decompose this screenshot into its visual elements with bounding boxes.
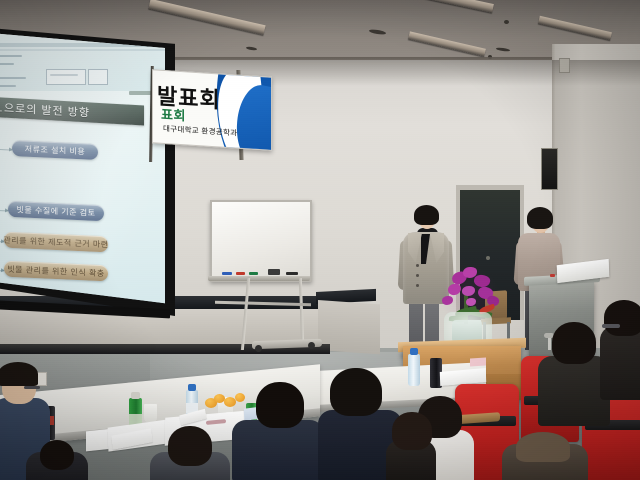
person-torso (600, 326, 640, 400)
flow-item-label: 빗물 수질에 기준 검토 (17, 204, 96, 219)
podium-pen[interactable] (550, 274, 555, 277)
microphone-stand (548, 336, 551, 350)
flow-connector (0, 148, 12, 150)
paper-cup[interactable] (144, 404, 157, 422)
ceiling-light (408, 31, 486, 56)
whiteboard-caster-wheel (255, 345, 262, 352)
pink-note (470, 357, 486, 366)
slide-title-bar: …으로의 발전 방향 (0, 97, 144, 126)
person-hair (414, 205, 439, 225)
ceiling-light (148, 0, 265, 35)
event-banner: 발표회 표회 대구대학교 환경공학과 (152, 69, 272, 151)
door-handle-icon[interactable] (486, 256, 490, 260)
whiteboard-eraser[interactable] (268, 269, 280, 275)
eyeglasses-icon (602, 324, 620, 328)
person-head (256, 382, 304, 428)
banner-subtitle: 표회 (161, 104, 186, 125)
projection-screen[interactable]: …으로의 발전 방향 저류조 설치 비용 빗물 수질에 기준 검토 관리를 위한… (0, 33, 165, 306)
ceiling-sensor (504, 20, 509, 24)
flow-item-label: 저류조 설치 비용 (25, 143, 85, 157)
person-hair (0, 362, 38, 386)
wall-fixture-box (559, 58, 570, 73)
ceiling-sensor (369, 29, 386, 36)
bottle-cap (188, 384, 196, 391)
slide-flow-item: 빗물 관리를 위한 인식 확충 (4, 261, 108, 282)
person-head (516, 432, 570, 462)
person-torso (232, 420, 324, 480)
whiteboard-marker[interactable] (236, 272, 245, 275)
whiteboard[interactable] (210, 200, 312, 282)
person-head (40, 440, 74, 470)
whiteboard-marker[interactable] (222, 272, 232, 275)
water-bottle[interactable] (408, 354, 420, 386)
flow-item-label: 관리를 위한 제도적 근거 마련 (3, 234, 108, 250)
ceiling-light (398, 0, 494, 13)
person-head (330, 368, 382, 416)
ceiling-light (538, 16, 612, 40)
whiteboard-caster-wheel (308, 342, 315, 349)
bottle-cap (131, 392, 140, 399)
person-head (392, 412, 432, 450)
slide-flow-item: 관리를 위한 제도적 근거 마련 (4, 232, 108, 253)
person-head (168, 426, 212, 466)
slide-body: …으로의 발전 방향 저류조 설치 비용 빗물 수질에 기준 검토 관리를 위한… (0, 91, 165, 306)
orange-fruit (235, 393, 245, 402)
ceiling-sensor (496, 47, 510, 52)
coat-button (416, 264, 419, 267)
bottle-cap (410, 348, 418, 355)
flow-connector (0, 210, 8, 212)
whiteboard-marker[interactable] (286, 272, 298, 275)
seminar-room-photo: …으로의 발전 방향 저류조 설치 비용 빗물 수질에 기준 검토 관리를 위한… (0, 0, 640, 480)
wall-speaker (541, 148, 558, 190)
slide-flow-item: 저류조 설치 비용 (12, 140, 98, 160)
person-hair (527, 207, 553, 229)
ceiling-sensor (246, 46, 257, 51)
person-head (552, 322, 596, 364)
whiteboard-marker-tray (208, 276, 310, 281)
slide-flow-item: 빗물 수질에 기준 검토 (8, 201, 104, 221)
slide-title-text: …으로의 발전 방향 (0, 99, 90, 120)
person-head (604, 300, 640, 336)
eyeglasses-icon (24, 386, 40, 389)
flow-item-label: 빗물 관리를 위한 인식 확충 (7, 263, 104, 278)
coat-button (416, 274, 419, 277)
coat-button (416, 284, 419, 287)
whiteboard-marker[interactable] (249, 272, 258, 275)
